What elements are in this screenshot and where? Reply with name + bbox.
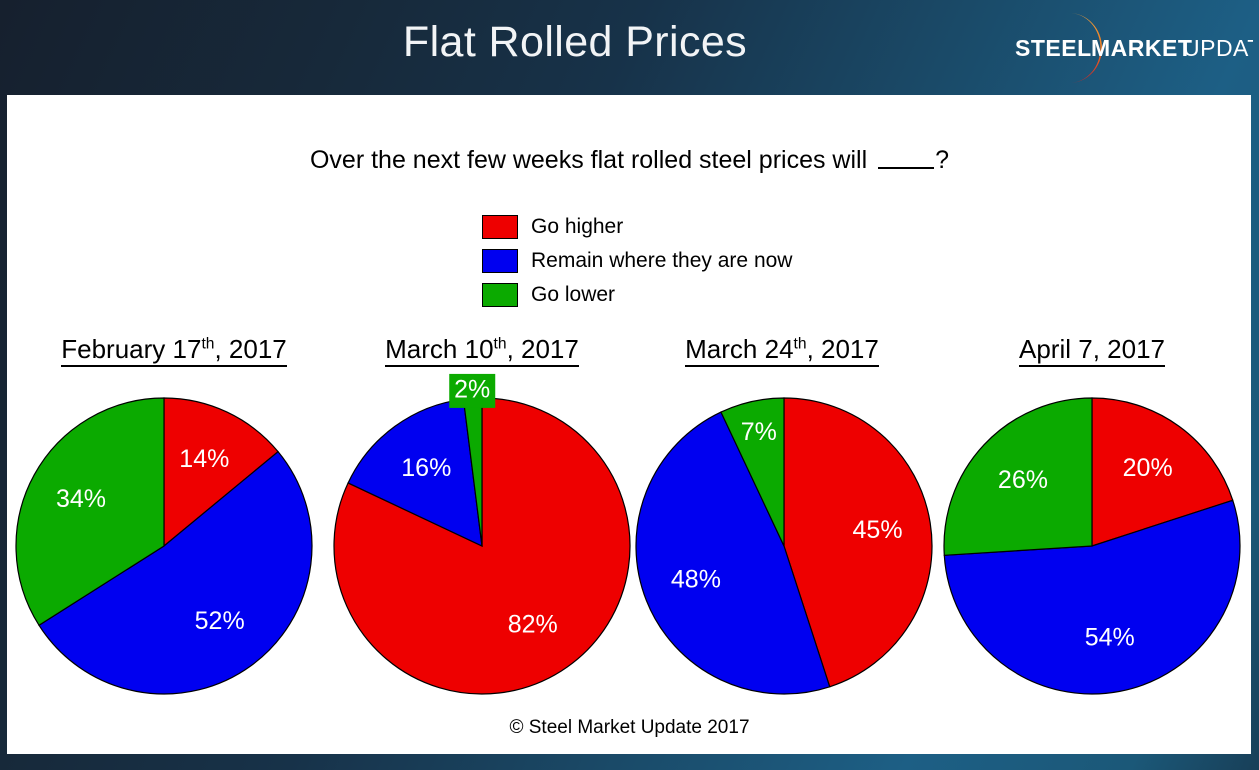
chart-legend: Go higher Remain where they are now Go l… [482, 210, 792, 312]
legend-label-go-higher: Go higher [531, 215, 623, 239]
legend-item-remain-same: Remain where they are now [482, 244, 792, 278]
pie-title-2: March 10th, 2017 [332, 334, 632, 365]
pie-chart-march-10: 82%16%2% [332, 396, 632, 696]
pie-slice-label: 2% [454, 376, 490, 404]
pie-title-3: March 24th, 2017 [632, 334, 932, 365]
steel-market-update-logo: STEEL MARKET UPDATE [1003, 8, 1253, 88]
pie-slice-label: 7% [741, 418, 777, 446]
pie-title-1-month: February [61, 334, 165, 364]
pie-slice-label: 54% [1085, 624, 1135, 652]
pie-slice-label: 82% [508, 611, 558, 639]
survey-question-text: Over the next few weeks flat rolled stee… [310, 146, 874, 174]
pie-title-4-month: April [1019, 334, 1071, 364]
pie-slice-label: 26% [998, 466, 1048, 494]
pie-slice-label: 34% [56, 485, 106, 513]
legend-item-go-lower: Go lower [482, 278, 792, 312]
copyright-notice: © Steel Market Update 2017 [0, 717, 1259, 739]
pie-title-3-ordinal: th [794, 335, 807, 352]
pie-title-1-year: , 2017 [214, 334, 286, 364]
pie-svg: 14%52%34% [14, 396, 314, 696]
answer-blank [878, 167, 934, 169]
pie-slice-label: 16% [401, 454, 451, 482]
pie-chart-april-7: 20%54%26% [942, 396, 1242, 696]
pie-svg: 20%54%26% [942, 396, 1242, 696]
page-title: Flat Rolled Prices [0, 19, 1150, 66]
pie-title-2-year: , 2017 [507, 334, 579, 364]
pie-title-3-month: March [685, 334, 757, 364]
legend-label-remain-same: Remain where they are now [531, 249, 792, 273]
pie-slice-label: 48% [671, 565, 721, 593]
pie-svg: 45%48%7% [634, 396, 934, 696]
survey-question: Over the next few weeks flat rolled stee… [0, 146, 1259, 175]
survey-question-mark: ? [935, 146, 949, 174]
pie-slice-label: 14% [179, 445, 229, 473]
pie-title-4-day: 7 [1078, 334, 1092, 364]
legend-label-go-lower: Go lower [531, 283, 615, 307]
pie-title-3-day: 24 [765, 334, 794, 364]
pie-title-4: April 7, 2017 [942, 334, 1242, 365]
logo-word-market: MARKET [1091, 35, 1192, 61]
logo-word-update: UPDATE [1183, 35, 1253, 61]
pie-svg: 82%16%2% [332, 396, 632, 696]
pie-chart-march-24: 45%48%7% [634, 396, 934, 696]
pie-slice-label: 20% [1123, 454, 1173, 482]
pie-chart-february-17: 14%52%34% [14, 396, 314, 696]
pie-title-2-day: 10 [465, 334, 494, 364]
logo-word-steel: STEEL [1015, 35, 1092, 61]
pie-slice-label: 45% [853, 516, 903, 544]
pie-title-2-ordinal: th [494, 335, 507, 352]
slide-root: Flat Rolled Prices STEEL MARKET UPDATE O… [0, 0, 1259, 770]
pie-title-3-year: , 2017 [807, 334, 879, 364]
legend-item-go-higher: Go higher [482, 210, 792, 244]
pie-title-1-ordinal: th [201, 335, 214, 352]
pie-title-4-year: , 2017 [1093, 334, 1165, 364]
pie-title-2-month: March [385, 334, 457, 364]
legend-swatch-green [482, 283, 518, 307]
pie-title-1: February 17th, 2017 [24, 334, 324, 365]
legend-swatch-blue [482, 249, 518, 273]
pie-slice-label: 52% [195, 607, 245, 635]
logo-svg: STEEL MARKET UPDATE [1003, 8, 1253, 88]
legend-swatch-red [482, 215, 518, 239]
pie-title-1-day: 17 [173, 334, 202, 364]
